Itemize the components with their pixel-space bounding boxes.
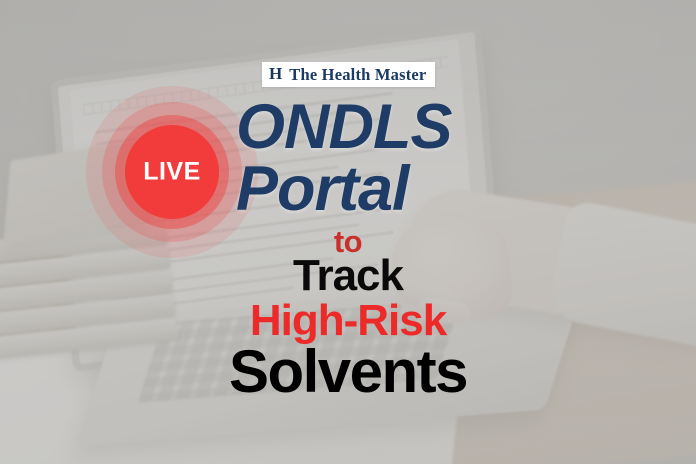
headline-line-solvents: Solvents [0, 342, 696, 402]
brand-banner[interactable]: H The Health Master [262, 62, 435, 87]
health-master-h-icon: H [269, 65, 280, 82]
headline-line-ondls: ONDLS [236, 96, 452, 159]
headline-line-portal: Portal [236, 158, 409, 221]
headline-line-track: Track [0, 254, 696, 298]
live-badge-label: LIVE [143, 158, 201, 187]
headline-line-high-risk: High-Risk [0, 299, 696, 343]
brand-name: The Health Master [289, 65, 426, 85]
poster-root: LIVE H The Health Master ONDLS Portal to… [0, 0, 696, 464]
